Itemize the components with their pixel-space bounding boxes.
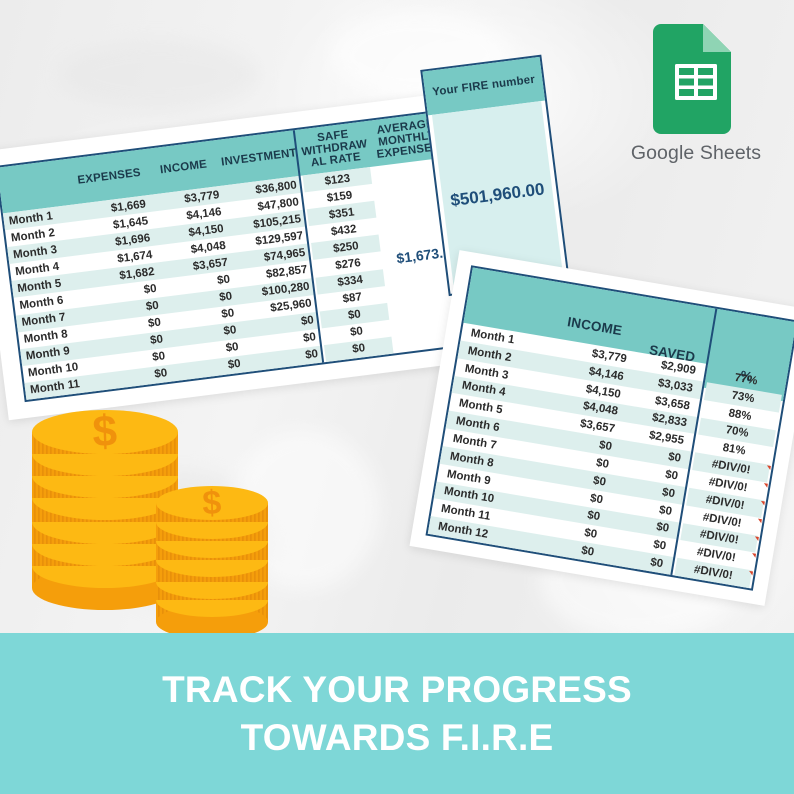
bottom-banner: TRACK YOUR PROGRESS TOWARDS F.I.R.E (0, 633, 794, 794)
poster-canvas: Google Sheets EXPENSESINCOMEINVESTMENTSA… (0, 0, 794, 794)
cell-error-indicator (763, 483, 768, 488)
background-smudge (60, 40, 260, 110)
savings-card: INCOMESAVED%Month 1$3,779$2,90977%Month … (410, 250, 794, 606)
fire-tracker-table[interactable]: EXPENSESINCOMEINVESTMENTSAFE WITHDRAW AL… (0, 108, 485, 402)
coins-svg: $ (14, 398, 294, 636)
svg-text:$: $ (202, 484, 222, 523)
cell-error-indicator (766, 466, 771, 471)
savings-rate-table[interactable]: INCOMESAVED%Month 1$3,779$2,90977%Month … (425, 265, 794, 591)
banner-line-1: TRACK YOUR PROGRESS (162, 667, 632, 712)
cell-error-indicator (748, 571, 753, 576)
sheets-wordmark: Google Sheets (620, 142, 772, 165)
cell-error-indicator (757, 518, 762, 523)
coin-stacks-illustration: $ (14, 398, 294, 636)
cell-error-indicator (751, 553, 756, 558)
svg-text:$: $ (92, 407, 118, 457)
sheets-doc-icon (653, 24, 739, 134)
banner-line-2: TOWARDS F.I.R.E (241, 715, 554, 760)
cell-error-indicator (754, 536, 759, 541)
cell-error-indicator (760, 501, 765, 506)
google-sheets-logo: Google Sheets (620, 24, 772, 165)
